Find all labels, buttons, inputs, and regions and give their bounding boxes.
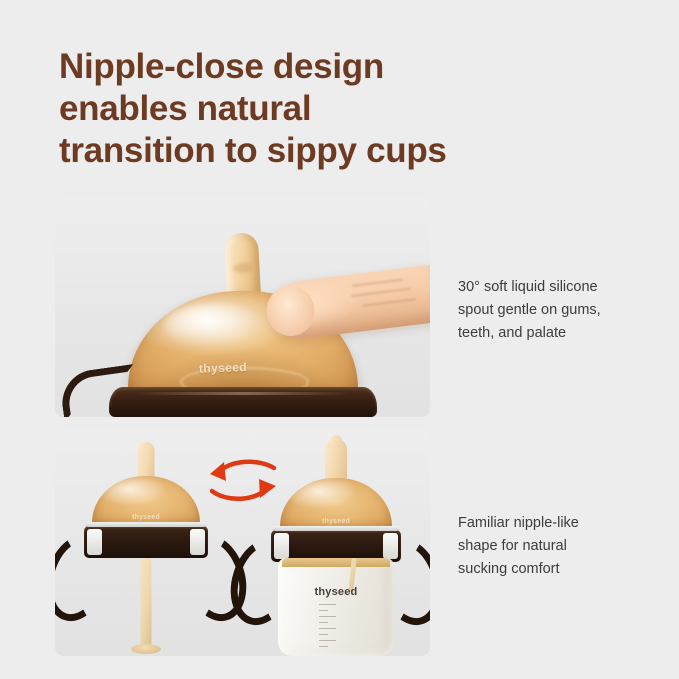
straw-spout-bottle: thyseed <box>71 442 221 656</box>
headline-line-1: Nipple-close design <box>59 46 539 88</box>
measurement-scale <box>319 604 353 652</box>
straw-weighted-foot <box>131 644 161 654</box>
brand-logo-dome: thyseed <box>199 360 248 376</box>
collar-clip-left <box>274 533 289 559</box>
collar-clip-right <box>383 533 398 559</box>
spout-caption-line-1: 30° soft liquid silicone <box>458 276 658 299</box>
finger-crease <box>362 298 416 308</box>
spout-press-photo-panel: thyseed <box>55 196 430 417</box>
bottle-neck-ring <box>282 558 390 567</box>
shape-caption-line-3: sucking comfort <box>458 558 658 581</box>
collar-clip-right <box>190 529 205 555</box>
photo-backdrop: thyseed <box>55 196 430 417</box>
shape-comparison-photo-panel: thyseed thyseed <box>55 428 430 656</box>
collar-highlight <box>135 392 349 395</box>
collar-rim <box>86 522 206 527</box>
straw-tube <box>141 558 152 646</box>
nipple-teat-bottle: thyseed thyseed <box>256 438 416 656</box>
finger-pressing <box>269 264 430 342</box>
bottle-collar <box>84 526 208 558</box>
bottle-collar <box>109 387 377 417</box>
spout-caption: 30° soft liquid silicone spout gentle on… <box>458 276 658 345</box>
bottle-body: thyseed <box>278 558 394 656</box>
finger-crease <box>352 278 404 287</box>
bottle-handle <box>58 364 140 417</box>
shape-caption-line-1: Familiar nipple-like <box>458 512 658 535</box>
brand-logo-dome: thyseed <box>322 518 350 525</box>
photo-backdrop: thyseed thyseed <box>55 428 430 656</box>
spout-caption-line-2: spout gentle on gums, <box>458 299 658 322</box>
finger-crease <box>351 287 411 297</box>
headline-line-3: transition to sippy cups <box>59 130 539 172</box>
page-title: Nipple-close design enables natural tran… <box>59 46 539 172</box>
brand-logo-bottle: thyseed <box>315 586 358 598</box>
brand-logo-dome: thyseed <box>132 514 160 521</box>
collar-rim <box>273 526 399 531</box>
shape-caption-line-2: shape for natural <box>458 535 658 558</box>
dome-highlight <box>164 304 265 349</box>
spout-caption-line-3: teeth, and palate <box>458 322 658 345</box>
shape-caption: Familiar nipple-like shape for natural s… <box>458 512 658 581</box>
headline-line-2: enables natural <box>59 88 539 130</box>
collar-clip-left <box>87 529 102 555</box>
